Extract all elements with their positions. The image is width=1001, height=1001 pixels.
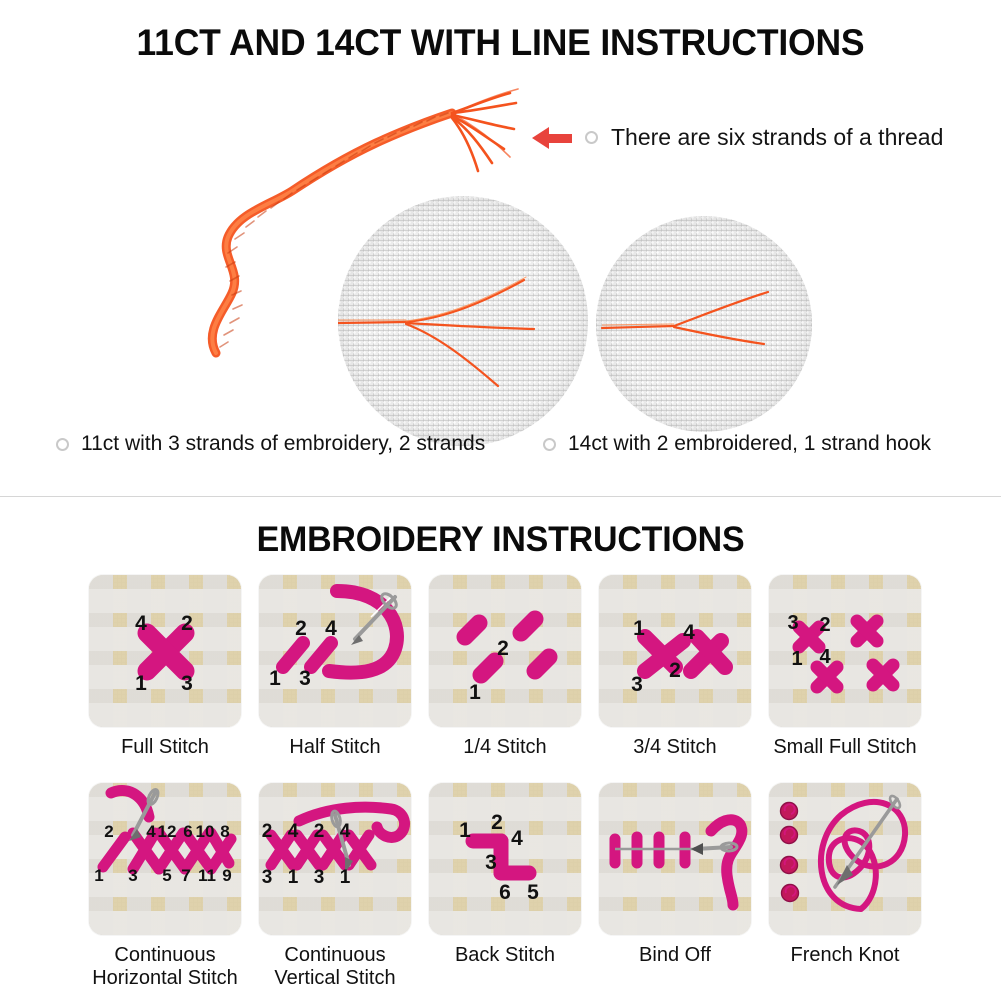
arrow-left-icon: [532, 127, 572, 149]
num-ch-b3: 7: [181, 866, 190, 885]
section-thread-counts: 11CT AND 14CT WITH LINE INSTRUCTIONS: [0, 0, 1001, 497]
num-cv-t1: 4: [288, 821, 299, 842]
infographic-page: 11CT AND 14CT WITH LINE INSTRUCTIONS: [0, 0, 1001, 1001]
stitch-label-three-quarter: 3/4 Stitch: [590, 736, 760, 759]
stitch-cell-quarter: 2 1 1/4 Stitch: [420, 575, 590, 759]
aida-14ct-threads: [596, 216, 812, 432]
stitch-label-quarter: 1/4 Stitch: [420, 736, 590, 759]
num-small-bl: 1: [791, 648, 802, 670]
full-stitch-diagram: 4 2 1 3: [89, 575, 241, 727]
ring-bullet-icon: [543, 438, 556, 451]
num-tq-tl: 1: [633, 617, 645, 640]
three-quarter-stitch-diagram: 1 4 2 3: [599, 575, 751, 727]
caption-11ct-text: 11ct with 3 strands of embroidery, 2 str…: [81, 432, 485, 456]
num-half-tr: 4: [325, 617, 337, 640]
stitch-label-full: Full Stitch: [80, 736, 250, 759]
num-tq-bl: 3: [631, 673, 643, 696]
stitch-tile-french-knot: [769, 783, 921, 935]
label-line-1: Continuous: [80, 944, 250, 967]
num-back-1: 1: [459, 819, 471, 842]
stitch-cell-continuous-vertical: 2 4 2 4 3 1 3 1 Continuou: [250, 783, 420, 990]
french-knot-diagram: [769, 783, 921, 935]
caption-14ct-text: 14ct with 2 embroidered, 1 strand hook: [568, 432, 931, 456]
small-full-stitch-diagram: 3 2 1 4: [769, 575, 921, 727]
stitch-cell-full: 4 2 1 3 Full Stitch: [80, 575, 250, 759]
num-back-3: 3: [485, 851, 497, 874]
ring-bullet-icon: [56, 438, 69, 451]
continuous-vertical-diagram: 2 4 2 4 3 1 3 1: [259, 783, 411, 935]
caption-11ct: 11ct with 3 strands of embroidery, 2 str…: [56, 432, 485, 456]
back-stitch-diagram: 1 2 4 3 6 5: [429, 783, 581, 935]
stitch-label-half: Half Stitch: [250, 736, 420, 759]
num-ch-t2: 12: [158, 822, 177, 841]
num-ch-b0: 1: [94, 866, 103, 885]
thread-note-text: There are six strands of a thread: [611, 124, 943, 151]
stitch-cell-small-full: 3 2 1 4 Small Full Stitch: [760, 575, 930, 759]
num-small-tr: 2: [819, 614, 830, 636]
stitch-cell-half: 2 4 1 3 Half Stitch: [250, 575, 420, 759]
num-cv-b1: 1: [288, 867, 299, 888]
num-tq-c: 2: [669, 659, 681, 682]
ring-bullet-icon: [585, 131, 598, 144]
num-ch-t1: 4: [146, 822, 156, 841]
caption-14ct: 14ct with 2 embroidered, 1 strand hook: [543, 432, 931, 456]
continuous-horizontal-diagram: 2 4 12 6 10 8 1 3 5 7 11: [89, 783, 241, 935]
num-cv-t0: 2: [262, 821, 273, 842]
num-ch-b2: 5: [162, 866, 171, 885]
num-quarter-b: 1: [469, 681, 481, 704]
num-cv-b2: 3: [314, 867, 325, 888]
num-full-tr: 2: [181, 612, 193, 635]
stitch-tile-back: 1 2 4 3 6 5: [429, 783, 581, 935]
stitch-tile-bind-off: [599, 783, 751, 935]
num-small-br: 4: [819, 646, 831, 668]
embroidery-title: EMBROIDERY INSTRUCTIONS: [15, 520, 986, 560]
aida-11ct-threads: [338, 196, 588, 446]
num-half-tl: 2: [295, 617, 307, 640]
stitch-label-continuous-horizontal: Continuous Horizontal Stitch: [80, 944, 250, 990]
num-back-2: 2: [491, 811, 503, 834]
stitch-tile-three-quarter: 1 4 2 3: [599, 575, 751, 727]
stitch-tile-continuous-vertical: 2 4 2 4 3 1 3 1: [259, 783, 411, 935]
label-line-2: Vertical Stitch: [250, 967, 420, 990]
num-cv-b0: 3: [262, 867, 273, 888]
stitch-tile-continuous-horizontal: 2 4 12 6 10 8 1 3 5 7 11: [89, 783, 241, 935]
stitch-label-french-knot: French Knot: [760, 944, 930, 967]
num-back-5: 5: [527, 881, 539, 904]
label-line-1: Continuous: [250, 944, 420, 967]
num-quarter-a: 2: [497, 637, 509, 660]
stitch-tile-full: 4 2 1 3: [89, 575, 241, 727]
stitch-tile-small-full: 3 2 1 4: [769, 575, 921, 727]
num-back-4: 4: [511, 827, 523, 850]
stitch-cell-french-knot: French Knot: [760, 783, 930, 990]
stitch-tile-quarter: 2 1: [429, 575, 581, 727]
stitch-label-small-full: Small Full Stitch: [760, 736, 930, 759]
num-full-bl: 1: [135, 672, 147, 695]
label-line-2: Horizontal Stitch: [80, 967, 250, 990]
thread-note-row: There are six strands of a thread: [532, 124, 943, 151]
stitch-grid: 4 2 1 3 Full Stitch: [80, 575, 936, 990]
stitch-cell-bind-off: Bind Off: [590, 783, 760, 990]
num-tq-tr: 4: [683, 621, 695, 644]
stitch-row-2: 2 4 12 6 10 8 1 3 5 7 11: [80, 783, 936, 990]
num-full-tl: 4: [135, 612, 147, 635]
aida-circle-11ct: [338, 196, 588, 446]
num-half-br: 3: [299, 667, 311, 690]
num-ch-b1: 3: [128, 866, 137, 885]
num-ch-b4: 11: [198, 866, 216, 885]
stitch-tile-half: 2 4 1 3: [259, 575, 411, 727]
stitch-cell-continuous-horizontal: 2 4 12 6 10 8 1 3 5 7 11: [80, 783, 250, 990]
num-full-br: 3: [181, 672, 193, 695]
aida-captions: 11ct with 3 strands of embroidery, 2 str…: [0, 432, 1001, 462]
num-cv-t3: 4: [340, 821, 351, 842]
num-cv-b3: 1: [340, 867, 351, 888]
num-half-bl: 1: [269, 667, 281, 690]
page-title: 11CT AND 14CT WITH LINE INSTRUCTIONS: [20, 22, 981, 64]
stitch-cell-back: 1 2 4 3 6 5 Back Stitch: [420, 783, 590, 990]
stitch-label-continuous-vertical: Continuous Vertical Stitch: [250, 944, 420, 990]
num-ch-t4: 10: [196, 822, 215, 841]
num-cv-t2: 2: [314, 821, 325, 842]
half-stitch-diagram: 2 4 1 3: [259, 575, 411, 727]
num-small-tl: 3: [787, 612, 798, 634]
stitch-label-bind-off: Bind Off: [590, 944, 760, 967]
num-ch-b5: 9: [222, 866, 231, 885]
section-embroidery-instructions: EMBROIDERY INSTRUCTIONS 4: [0, 497, 1001, 1001]
num-back-6: 6: [499, 881, 511, 904]
stitch-cell-three-quarter: 1 4 2 3 3/4 Stitch: [590, 575, 760, 759]
stitch-row-1: 4 2 1 3 Full Stitch: [80, 575, 936, 759]
bind-off-diagram: [599, 783, 751, 935]
num-ch-t3: 6: [183, 822, 192, 841]
num-ch-t5: 8: [220, 822, 229, 841]
num-ch-t0: 2: [104, 822, 113, 841]
stitch-label-back: Back Stitch: [420, 944, 590, 967]
quarter-stitch-diagram: 2 1: [429, 575, 581, 727]
aida-circle-14ct: [596, 216, 812, 432]
